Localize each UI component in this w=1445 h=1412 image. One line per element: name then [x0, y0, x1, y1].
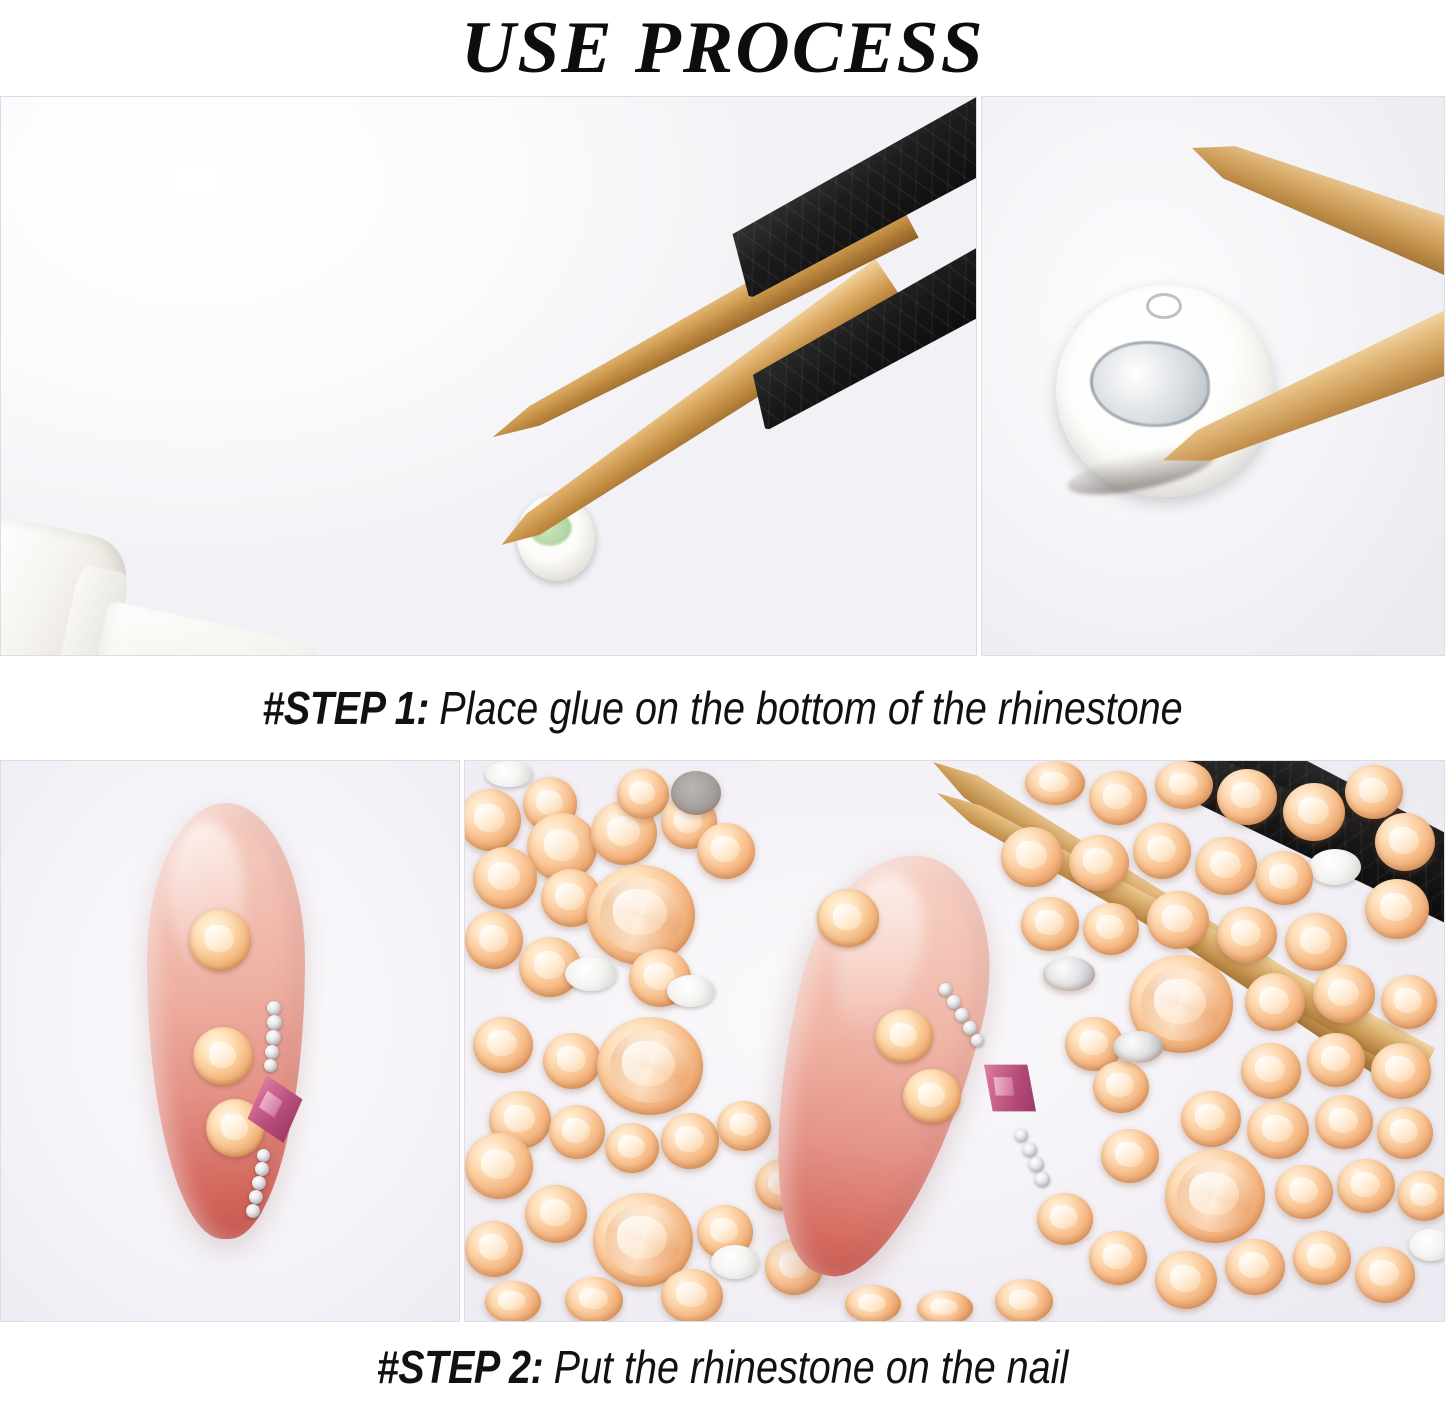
silver-bead	[249, 1190, 263, 1204]
step-1-text: Place glue on the bottom of the rhinesto…	[439, 681, 1182, 735]
step-1-label: #STEP 1:	[262, 681, 429, 735]
scattered-rhinestone	[1285, 913, 1347, 971]
scattered-rhinestone	[1371, 1043, 1431, 1099]
scattered-rhinestone	[995, 1279, 1053, 1322]
scattered-rhinestone	[661, 1269, 723, 1322]
scattered-rhinestone	[1315, 1095, 1373, 1149]
silver-bead	[1035, 1172, 1050, 1187]
scattered-rhinestone	[1375, 813, 1435, 871]
scattered-rhinestone	[1147, 891, 1209, 949]
step2-panel-left	[0, 760, 460, 1322]
scattered-rhinestone	[1155, 761, 1213, 809]
silver-bead	[963, 1021, 977, 1035]
scattered-rhinestone	[1365, 879, 1429, 939]
silver-bead	[252, 1176, 266, 1190]
scattered-rhinestone	[661, 1113, 719, 1169]
scattered-rhinestone	[1355, 1247, 1415, 1303]
scattered-rhinestone	[1025, 761, 1085, 805]
scattered-rhinestone	[617, 769, 669, 819]
page-header: USE PROCESS	[0, 0, 1445, 96]
silver-bead	[971, 1034, 984, 1047]
scattered-rhinestone-flat	[1409, 1229, 1445, 1261]
glue-bubble	[1146, 293, 1182, 319]
peach-rhinestone	[875, 1009, 933, 1063]
scattered-rhinestone	[845, 1285, 901, 1322]
silver-bead	[265, 1045, 279, 1059]
scattered-rhinestone	[1155, 1251, 1217, 1309]
silver-bead	[1029, 1157, 1044, 1172]
scattered-rhinestone	[549, 1105, 605, 1159]
scattered-rhinestone	[1381, 975, 1437, 1029]
scattered-rhinestone	[1083, 903, 1139, 955]
scattered-rhinestone	[1021, 897, 1079, 951]
scattered-rhinestone	[1037, 1193, 1093, 1245]
scattered-rhinestone	[1397, 1171, 1445, 1221]
scattered-rhinestone-flat	[485, 761, 533, 787]
peach-rhinestone	[817, 889, 879, 947]
scattered-rhinestone	[465, 1133, 533, 1199]
scattered-rhinestone	[1241, 1043, 1301, 1099]
scattered-rhinestone	[1345, 765, 1403, 819]
silver-bead	[939, 983, 952, 996]
scattered-rhinestone	[1293, 1231, 1351, 1285]
scattered-rhinestone	[473, 1017, 533, 1073]
step-2-text: Put the rhinestone on the nail	[554, 1340, 1069, 1394]
scattered-rhinestone-large	[597, 1017, 703, 1115]
step1-panel-right	[981, 96, 1445, 656]
scattered-rhinestone	[1225, 1239, 1285, 1295]
glue-bottle-nozzle	[84, 600, 336, 656]
step-1-photo-row	[0, 96, 1445, 656]
scattered-rhinestone	[1275, 1165, 1333, 1219]
scattered-rhinestone	[1337, 1159, 1395, 1213]
rhinestone-flat-back	[1056, 285, 1274, 497]
silver-bead	[267, 1015, 282, 1030]
peach-rhinestone	[903, 1069, 961, 1123]
step2-panel-right	[464, 760, 1445, 1322]
scattered-rhinestone-large	[1165, 1149, 1265, 1243]
scattered-rhinestone	[1133, 823, 1191, 879]
scattered-rhinestone-silver	[1043, 957, 1095, 991]
scattered-rhinestone	[1245, 973, 1305, 1031]
silver-bead	[267, 1001, 281, 1015]
scattered-rhinestone	[717, 1101, 771, 1151]
scattered-rhinestone-flat	[565, 957, 617, 991]
silver-bead	[955, 1008, 969, 1022]
silver-bead	[255, 1162, 269, 1176]
scattered-rhinestone	[1195, 837, 1257, 895]
scattered-rhinestone	[1377, 1107, 1433, 1159]
scattered-rhinestone	[1217, 769, 1277, 825]
scattered-rhinestone	[465, 1221, 523, 1277]
scattered-rhinestone	[543, 1033, 601, 1089]
scattered-rhinestone	[1093, 1061, 1149, 1113]
step-1-caption: #STEP 1: Place glue on the bottom of the…	[101, 656, 1344, 760]
scattered-rhinestone-large	[587, 865, 695, 965]
scattered-rhinestone	[1089, 1231, 1147, 1285]
scattered-rhinestone	[697, 823, 755, 879]
scattered-rhinestone	[1255, 851, 1313, 905]
scattered-rhinestone	[1089, 771, 1147, 825]
glue-smear	[1090, 341, 1210, 427]
silver-bead	[947, 995, 961, 1009]
silver-bead	[266, 1030, 281, 1045]
scattered-rhinestone-flat	[1309, 849, 1361, 885]
scattered-rhinestone	[1217, 907, 1277, 963]
silver-bead	[257, 1149, 270, 1162]
scattered-rhinestone	[1001, 827, 1063, 887]
scattered-rhinestone	[485, 1281, 541, 1322]
scattered-rhinestone-grey	[671, 771, 721, 815]
scattered-rhinestone	[1101, 1129, 1159, 1183]
scattered-rhinestone	[473, 847, 537, 909]
page-title: USE PROCESS	[461, 11, 985, 85]
step-2-photo-row	[0, 760, 1445, 1322]
step1-panel-left	[0, 96, 977, 656]
scattered-rhinestone	[465, 911, 523, 969]
step-2-label: #STEP 2:	[377, 1340, 544, 1394]
silver-bead	[1015, 1129, 1028, 1142]
scattered-rhinestone-silver	[1113, 1031, 1163, 1063]
peach-rhinestone	[189, 909, 251, 971]
scattered-rhinestone	[1181, 1091, 1241, 1147]
silver-bead	[246, 1204, 260, 1218]
scattered-rhinestone	[525, 1185, 587, 1243]
scattered-rhinestone	[1247, 1101, 1309, 1159]
step-2-caption: #STEP 2: Put the rhinestone on the nail	[101, 1322, 1344, 1412]
scattered-rhinestone-flat	[711, 1245, 759, 1279]
peach-rhinestone	[193, 1027, 253, 1085]
silver-bead	[1023, 1143, 1037, 1157]
scattered-rhinestone-flat	[667, 975, 715, 1007]
scattered-rhinestone	[565, 1277, 623, 1322]
scattered-rhinestone	[917, 1291, 973, 1322]
scattered-rhinestone	[1069, 835, 1129, 891]
scattered-rhinestone	[605, 1123, 659, 1173]
scattered-rhinestone	[1307, 1033, 1365, 1087]
scattered-rhinestone	[1313, 965, 1375, 1023]
scattered-rhinestone	[1283, 783, 1345, 841]
silver-bead	[264, 1059, 277, 1072]
